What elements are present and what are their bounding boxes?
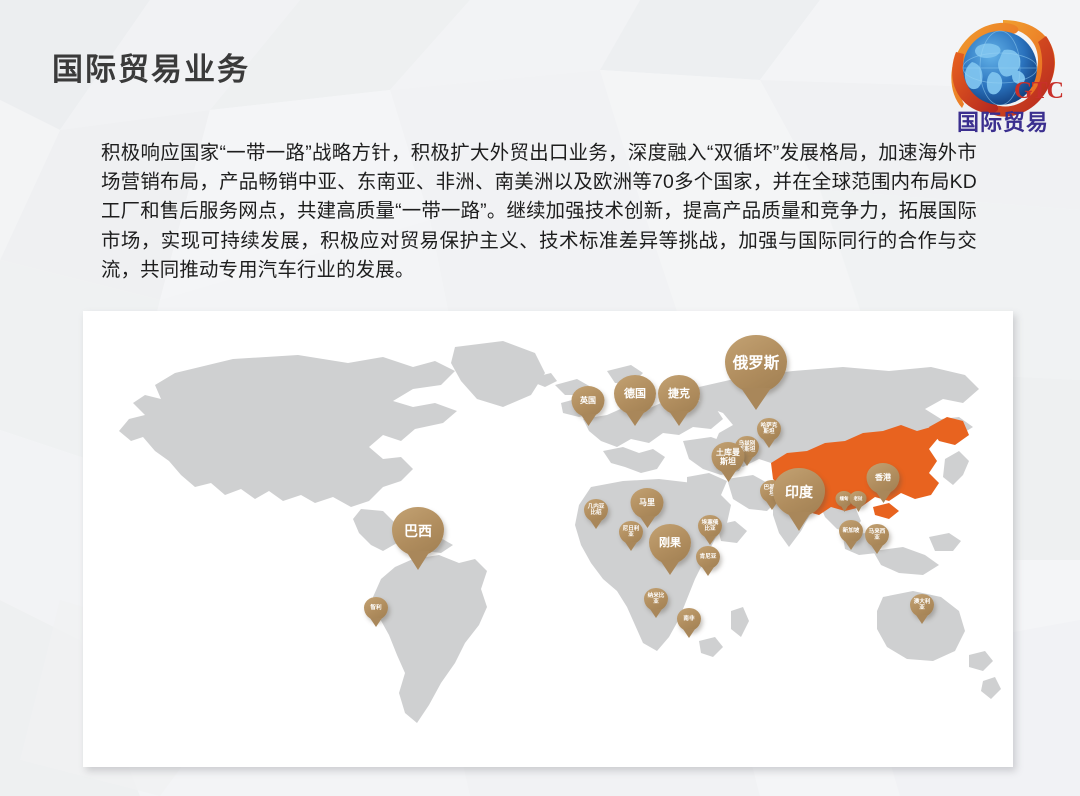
map-pin[interactable]: 南非 — [677, 608, 701, 631]
map-pin[interactable]: 德国 — [614, 375, 656, 415]
map-pin-tail — [854, 505, 862, 512]
map-pin-label: 英国 — [572, 386, 605, 417]
map-pin-tail — [370, 618, 382, 627]
logo-name: 国际贸易 — [957, 110, 1049, 135]
map-pin[interactable]: 纳米比亚 — [644, 588, 668, 611]
map-pin-tail — [787, 512, 811, 531]
map-pin[interactable]: 哈萨克斯坦 — [757, 418, 781, 441]
map-pin[interactable]: 智利 — [364, 597, 388, 620]
slide-root: 国际贸易业务 积极响应国家“一带一路”战略方针，积极扩大外贸出口业务，深度融入“… — [0, 0, 1080, 796]
map-pin-label: 埃塞俄比亚 — [698, 515, 722, 538]
map-pin[interactable]: 英国 — [572, 386, 605, 417]
map-pin-label: 哈萨克斯坦 — [757, 418, 781, 441]
map-pin-label: 南非 — [677, 608, 701, 631]
map-pin-label: 刚果 — [649, 524, 691, 564]
map-pin-label: 老挝 — [850, 491, 867, 507]
map-pin-label: 巴西 — [392, 507, 444, 556]
map-pin-label: 智利 — [364, 597, 388, 620]
map-pin-label: 肯尼亚 — [696, 546, 720, 569]
map-pin-label: 新加坡 — [839, 520, 863, 543]
map-pin-tail — [720, 470, 736, 482]
map-pin[interactable]: 几内亚比绍 — [584, 499, 608, 522]
map-pin[interactable]: 马来西亚 — [865, 524, 889, 547]
map-pin[interactable]: 捷克 — [658, 375, 700, 415]
map-pin-tail — [840, 505, 848, 512]
map-pin[interactable]: 老挝 — [850, 491, 867, 507]
map-pin-label: 澳大利亚 — [910, 594, 934, 617]
map-pin-tail — [916, 615, 928, 624]
map-pin-label: 尼日利亚 — [619, 521, 643, 544]
map-pin-tail — [660, 560, 680, 575]
map-pin[interactable]: 尼日利亚 — [619, 521, 643, 544]
map-pin[interactable]: 香港 — [867, 463, 900, 494]
map-pin-label: 香港 — [867, 463, 900, 494]
map-pin-tail — [763, 439, 775, 448]
map-pin-tail — [741, 388, 771, 410]
map-pin-label: 印度 — [773, 468, 825, 517]
map-pin[interactable]: 埃塞俄比亚 — [698, 515, 722, 538]
logo-globe-icon: GTC 国际贸易 — [942, 14, 1064, 140]
page-title: 国际贸易业务 — [52, 44, 250, 89]
logo-monogram: GTC — [1014, 78, 1063, 104]
map-pin-label: 德国 — [614, 375, 656, 415]
map-pin-label: 俄罗斯 — [725, 335, 787, 393]
body-paragraph: 积极响应国家“一带一路”战略方针，积极扩大外贸出口业务，深度融入“双循坏”发展格… — [101, 139, 977, 285]
map-pin[interactable]: 马里 — [631, 488, 664, 519]
map-pin-tail — [580, 414, 596, 426]
map-pin-label: 土库曼斯坦 — [712, 442, 745, 473]
map-pin-tail — [875, 491, 891, 503]
map-pin[interactable]: 澳大利亚 — [910, 594, 934, 617]
map-pin-tail — [702, 567, 714, 576]
map-pin-tail — [669, 411, 689, 426]
map-pin[interactable]: 巴西 — [392, 507, 444, 556]
map-pin[interactable]: 土库曼斯坦 — [712, 442, 745, 473]
map-pin-tail — [625, 411, 645, 426]
map-pin-label: 捷克 — [658, 375, 700, 415]
map-pin[interactable]: 新加坡 — [839, 520, 863, 543]
map-pin-tail — [845, 541, 857, 550]
company-logo: GTC 国际贸易 — [942, 14, 1064, 140]
map-pin[interactable]: 肯尼亚 — [696, 546, 720, 569]
map-pin[interactable]: 刚果 — [649, 524, 691, 564]
map-pin-tail — [650, 609, 662, 618]
map-pin-label: 纳米比亚 — [644, 588, 668, 611]
map-pin-tail — [406, 551, 430, 570]
world-map-card: 英国德国捷克俄罗斯哈萨克斯坦乌兹别克斯坦土库曼斯坦巴基斯坦印度缅甸老挝香港新加坡… — [83, 311, 1013, 767]
map-pin-tail — [683, 629, 695, 638]
map-pin-tail — [704, 536, 716, 545]
map-pin[interactable]: 俄罗斯 — [725, 335, 787, 393]
map-pin-tail — [590, 520, 602, 529]
map-pin-tail — [871, 545, 883, 554]
map-pin-label: 马里 — [631, 488, 664, 519]
map-pin-tail — [625, 542, 637, 551]
map-pin-label: 马来西亚 — [865, 524, 889, 547]
map-pin[interactable]: 印度 — [773, 468, 825, 517]
map-pin-label: 几内亚比绍 — [584, 499, 608, 522]
